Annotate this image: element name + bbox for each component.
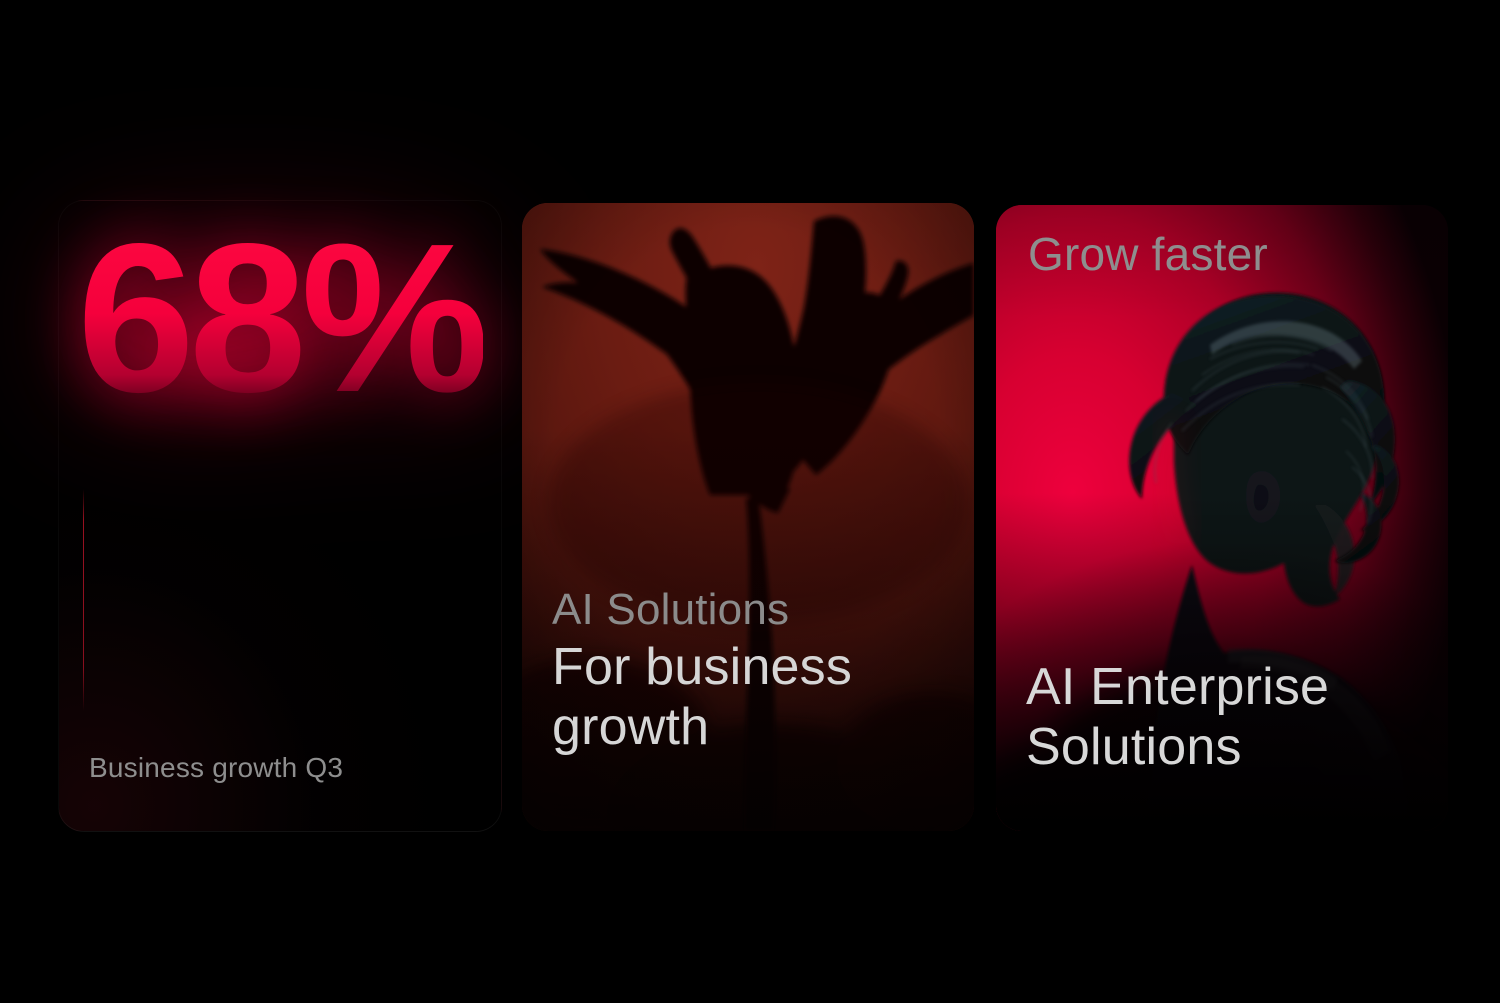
accent-rule [83, 489, 84, 711]
card-ai-solutions[interactable]: AI Solutions For business growth [522, 203, 974, 831]
stat-caption: Business growth Q3 [89, 751, 343, 785]
poster-canvas: 68% Business growth Q3 [0, 0, 1500, 1003]
card-title-line-2: Solutions [1026, 717, 1424, 777]
card-title-line-1: For business [552, 637, 950, 697]
card-text-block: AI Enterprise Solutions [1026, 657, 1424, 777]
card-ai-enterprise[interactable]: Grow faster AI Enterprise Solutions [996, 205, 1448, 831]
stat-value: 68% [77, 200, 483, 436]
stat-value-group: 68% [77, 200, 507, 450]
card-eyebrow: AI Solutions [552, 583, 950, 637]
card-title-line-2: growth [552, 697, 950, 757]
stat-card[interactable]: 68% Business growth Q3 [58, 200, 502, 832]
card-text-block: AI Solutions For business growth [552, 583, 950, 757]
card-headline-grow-faster: Grow faster [1028, 225, 1428, 283]
card-title-line-1: AI Enterprise [1026, 657, 1424, 717]
